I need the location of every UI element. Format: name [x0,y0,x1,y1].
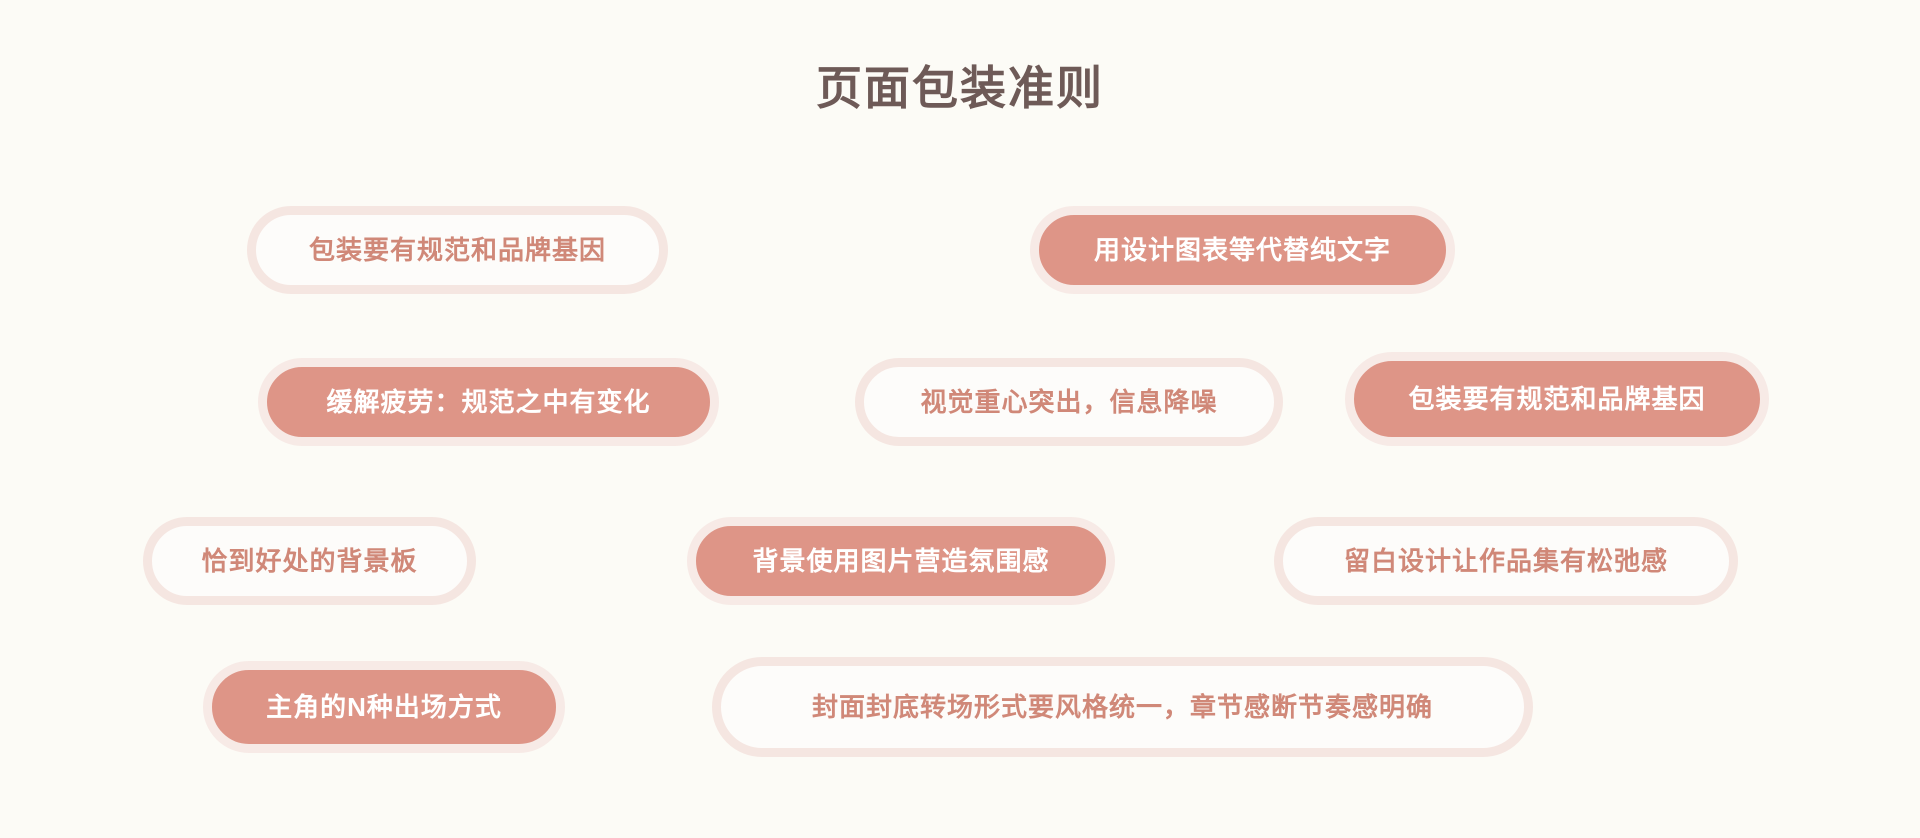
guideline-pill[interactable]: 留白设计让作品集有松弛感 [1274,517,1738,605]
guideline-pill[interactable]: 缓解疲劳：规范之中有变化 [258,358,719,446]
guideline-pill[interactable]: 恰到好处的背景板 [143,517,476,605]
guideline-pill-label: 封面封底转场形式要风格统一，章节感断节奏感明确 [812,694,1433,720]
guideline-pill-label: 留白设计让作品集有松弛感 [1344,548,1668,574]
guideline-pill-label: 背景使用图片营造氛围感 [752,548,1049,574]
page-title: 页面包装准则 [0,52,1920,118]
guideline-pill[interactable]: 包装要有规范和品牌基因 [1345,352,1769,446]
guideline-pill[interactable]: 用设计图表等代替纯文字 [1030,206,1455,294]
guideline-pill-label: 缓解疲劳：规范之中有变化 [326,389,650,415]
guideline-pill[interactable]: 封面封底转场形式要风格统一，章节感断节奏感明确 [712,657,1533,757]
guideline-pill[interactable]: 包装要有规范和品牌基因 [247,206,668,294]
guideline-pill-label: 恰到好处的背景板 [201,548,417,574]
guideline-pill[interactable]: 背景使用图片营造氛围感 [687,517,1115,605]
guideline-pill[interactable]: 主角的N种出场方式 [203,661,565,753]
guideline-pill-label: 包装要有规范和品牌基因 [1408,386,1705,412]
guideline-pill[interactable]: 视觉重心突出，信息降噪 [855,358,1283,446]
guideline-pill-label: 视觉重心突出，信息降噪 [920,389,1217,415]
guideline-pill-label: 用设计图表等代替纯文字 [1094,237,1391,263]
slide-canvas: 页面包装准则 包装要有规范和品牌基因用设计图表等代替纯文字缓解疲劳：规范之中有变… [0,0,1920,838]
guideline-pill-label: 包装要有规范和品牌基因 [309,237,606,263]
guideline-pill-label: 主角的N种出场方式 [266,694,502,720]
